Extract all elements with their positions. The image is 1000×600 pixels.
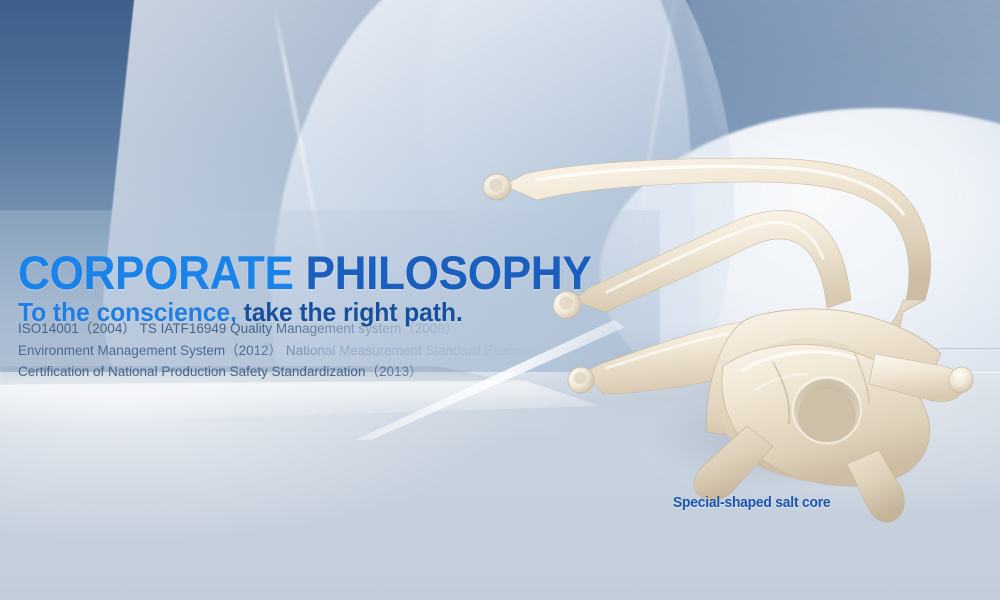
certification-line-3: Certification of National Production Saf… bbox=[18, 361, 578, 383]
certification-line-2: Environment Management System（2012） Nati… bbox=[18, 340, 578, 362]
product-caption: Special-shaped salt core bbox=[673, 494, 830, 511]
title-word-philosophy: PHILOSOPHY bbox=[294, 246, 592, 299]
product-prong-tip-1-inner bbox=[489, 179, 503, 192]
certification-list: ISO14001（2004） TS IATF16949 Quality Mana… bbox=[18, 318, 578, 383]
certification-line-1: ISO14001（2004） TS IATF16949 Quality Mana… bbox=[18, 318, 578, 340]
product-hub-hole-shadow bbox=[798, 389, 856, 443]
title-word-corporate: CORPORATE bbox=[18, 246, 294, 299]
page-title: CORPORATE PHILOSOPHY bbox=[18, 247, 591, 299]
product-arm-middle bbox=[573, 210, 851, 312]
corporate-philosophy-banner: CORPORATE PHILOSOPHY To the conscience, … bbox=[0, 0, 1000, 600]
